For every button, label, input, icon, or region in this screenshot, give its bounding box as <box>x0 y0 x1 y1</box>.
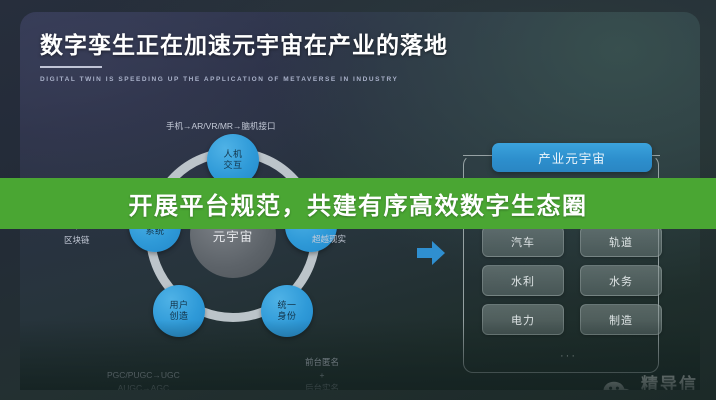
right-arrow-icon <box>416 240 446 266</box>
annotation-bl-line2: AUGC→AGC <box>107 382 180 390</box>
industry-cell-power: 电力 <box>482 304 564 335</box>
industry-row: 汽车 轨道 <box>482 226 662 257</box>
slide-heading: 数字孪生正在加速元宇宙在产业的落地 DIGITAL TWIN IS SPEEDI… <box>40 34 448 83</box>
wechat-account-name: 精导信息 <box>641 370 700 390</box>
ring-node-label: 人机 <box>223 149 242 160</box>
annotation-top: 手机→AR/VR/MR→脑机接口 <box>166 120 276 133</box>
annotation-right-line2: 超越现实 <box>312 233 346 246</box>
industry-row: 电力 制造 <box>482 304 662 335</box>
ring-node-label: 交互 <box>223 160 242 171</box>
annotation-br-line3: 后台实名 <box>305 382 339 391</box>
screenshot-root: 数字孪生正在加速元宇宙在产业的落地 DIGITAL TWIN IS SPEEDI… <box>0 0 716 400</box>
annotation-left-line3: 区块链 <box>64 234 90 247</box>
title-rule <box>40 66 102 68</box>
industry-cell-manufacturing: 制造 <box>580 304 662 335</box>
wechat-icon <box>603 381 634 391</box>
ring-node-label: 统一 <box>277 300 296 311</box>
page-subtitle: DIGITAL TWIN IS SPEEDING UP THE APPLICAT… <box>40 76 448 83</box>
overlay-banner: 开展平台规范，共建有序高效数字生态圈 <box>0 178 716 229</box>
industry-row: 水利 水务 <box>482 265 662 296</box>
industry-metaverse-header: 产业元宇宙 <box>492 143 652 172</box>
industry-cell-water-affairs: 水务 <box>580 265 662 296</box>
annotation-bottom-left: PGC/PUGC→UGC AUGC→AGC <box>107 369 180 390</box>
annotation-bottom-right: 前台匿名 + 后台实名 <box>305 356 339 390</box>
ring-node-label: 创造 <box>169 311 188 322</box>
ring-node-user-creation: 用户 创造 <box>153 285 205 337</box>
industry-cell-automobile: 汽车 <box>482 226 564 257</box>
page-title: 数字孪生正在加速元宇宙在产业的落地 <box>40 34 448 57</box>
metaverse-ring-diagram: 元宇宙 人机 交互 操作 系统 数字孪生 用户 创造 统一 身份 <box>138 140 328 330</box>
ring-node-label: 用户 <box>169 300 188 311</box>
industry-cell-water-conservancy: 水利 <box>482 265 564 296</box>
industry-more-ellipsis: ··· <box>560 350 577 362</box>
annotation-br-line1: 前台匿名 <box>305 356 339 369</box>
annotation-bl-line1: PGC/PUGC→UGC <box>107 369 180 382</box>
overlay-banner-text: 开展平台规范，共建有序高效数字生态圈 <box>129 186 588 221</box>
annotation-br-line2: + <box>305 369 339 382</box>
wechat-watermark: 精导信息 <box>603 370 700 390</box>
ring-node-unified-identity: 统一 身份 <box>261 285 313 337</box>
industry-cell-rail: 轨道 <box>580 226 662 257</box>
ring-node-label: 身份 <box>277 311 296 322</box>
